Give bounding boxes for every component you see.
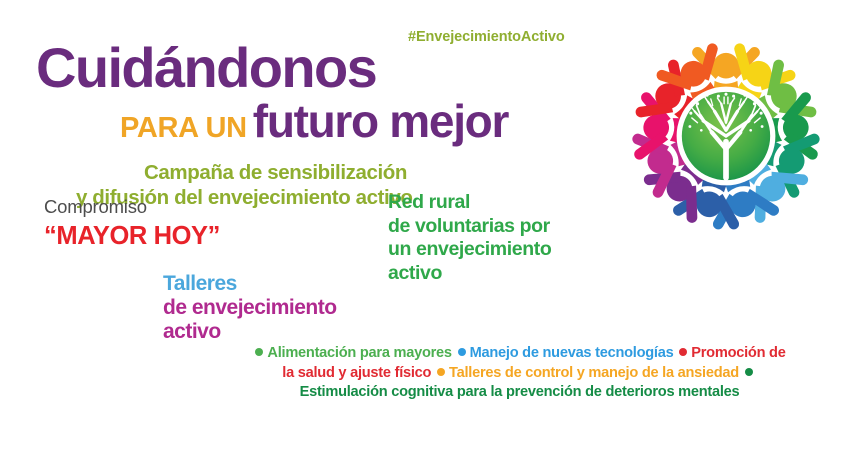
- talleres-body-line-2: activo: [163, 320, 337, 344]
- red-rural-line-2: de voluntarias por: [388, 215, 551, 239]
- red-rural-line-1: Red rural: [388, 191, 551, 215]
- compromiso-value: “MAYOR HOY”: [44, 221, 220, 251]
- talleres-block: Talleres de envejecimiento activo: [163, 272, 337, 344]
- bullet-dot-icon: [679, 348, 687, 356]
- compromiso-block: Compromiso “MAYOR HOY”: [44, 196, 220, 251]
- bullet-item: Talleres de control y manejo de la ansie…: [435, 365, 743, 381]
- red-rural-block: Red rural de voluntarias por un envejeci…: [388, 191, 551, 285]
- bullet-dot-icon: [437, 368, 445, 376]
- poster-canvas: #EnvejecimientoActivo Cuidándonos PARA U…: [0, 0, 851, 460]
- bullet-item: Alimentación para mayores: [253, 345, 455, 361]
- subtitle-line-1: Campaña de sensibilización: [144, 161, 407, 184]
- bullet-dot-icon: [458, 348, 466, 356]
- active-aging-people-circle-tree-logo: [608, 22, 844, 250]
- headline-para-un: PARA UN: [120, 112, 247, 144]
- bullet-label: Estimulación cognitiva para la prevenció…: [300, 384, 740, 400]
- headline-block: Cuidándonos PARA UNfuturo mejor Campaña …: [36, 40, 596, 210]
- talleres-body-line-1: de envejecimiento: [163, 296, 337, 320]
- red-rural-line-3: un envejecimiento: [388, 238, 551, 262]
- bullet-dot-icon: [255, 348, 263, 356]
- bullet-dot-icon: [745, 368, 753, 376]
- headline-futuro-mejor: futuro mejor: [253, 95, 508, 147]
- headline-main: Cuidándonos: [36, 40, 596, 96]
- talleres-heading: Talleres: [163, 272, 337, 296]
- activity-bullet-list: Alimentación para mayores Manejo de nuev…: [252, 344, 787, 403]
- bullet-label: Manejo de nuevas tecnologías: [470, 345, 678, 361]
- bullet-label: Talleres de control y manejo de la ansie…: [449, 365, 743, 381]
- compromiso-label: Compromiso: [44, 196, 220, 218]
- bullet-label: Alimentación para mayores: [267, 345, 455, 361]
- bullet-item: Manejo de nuevas tecnologías: [456, 345, 678, 361]
- red-rural-line-4: activo: [388, 262, 551, 286]
- headline-second-line: PARA UNfuturo mejor: [120, 98, 596, 156]
